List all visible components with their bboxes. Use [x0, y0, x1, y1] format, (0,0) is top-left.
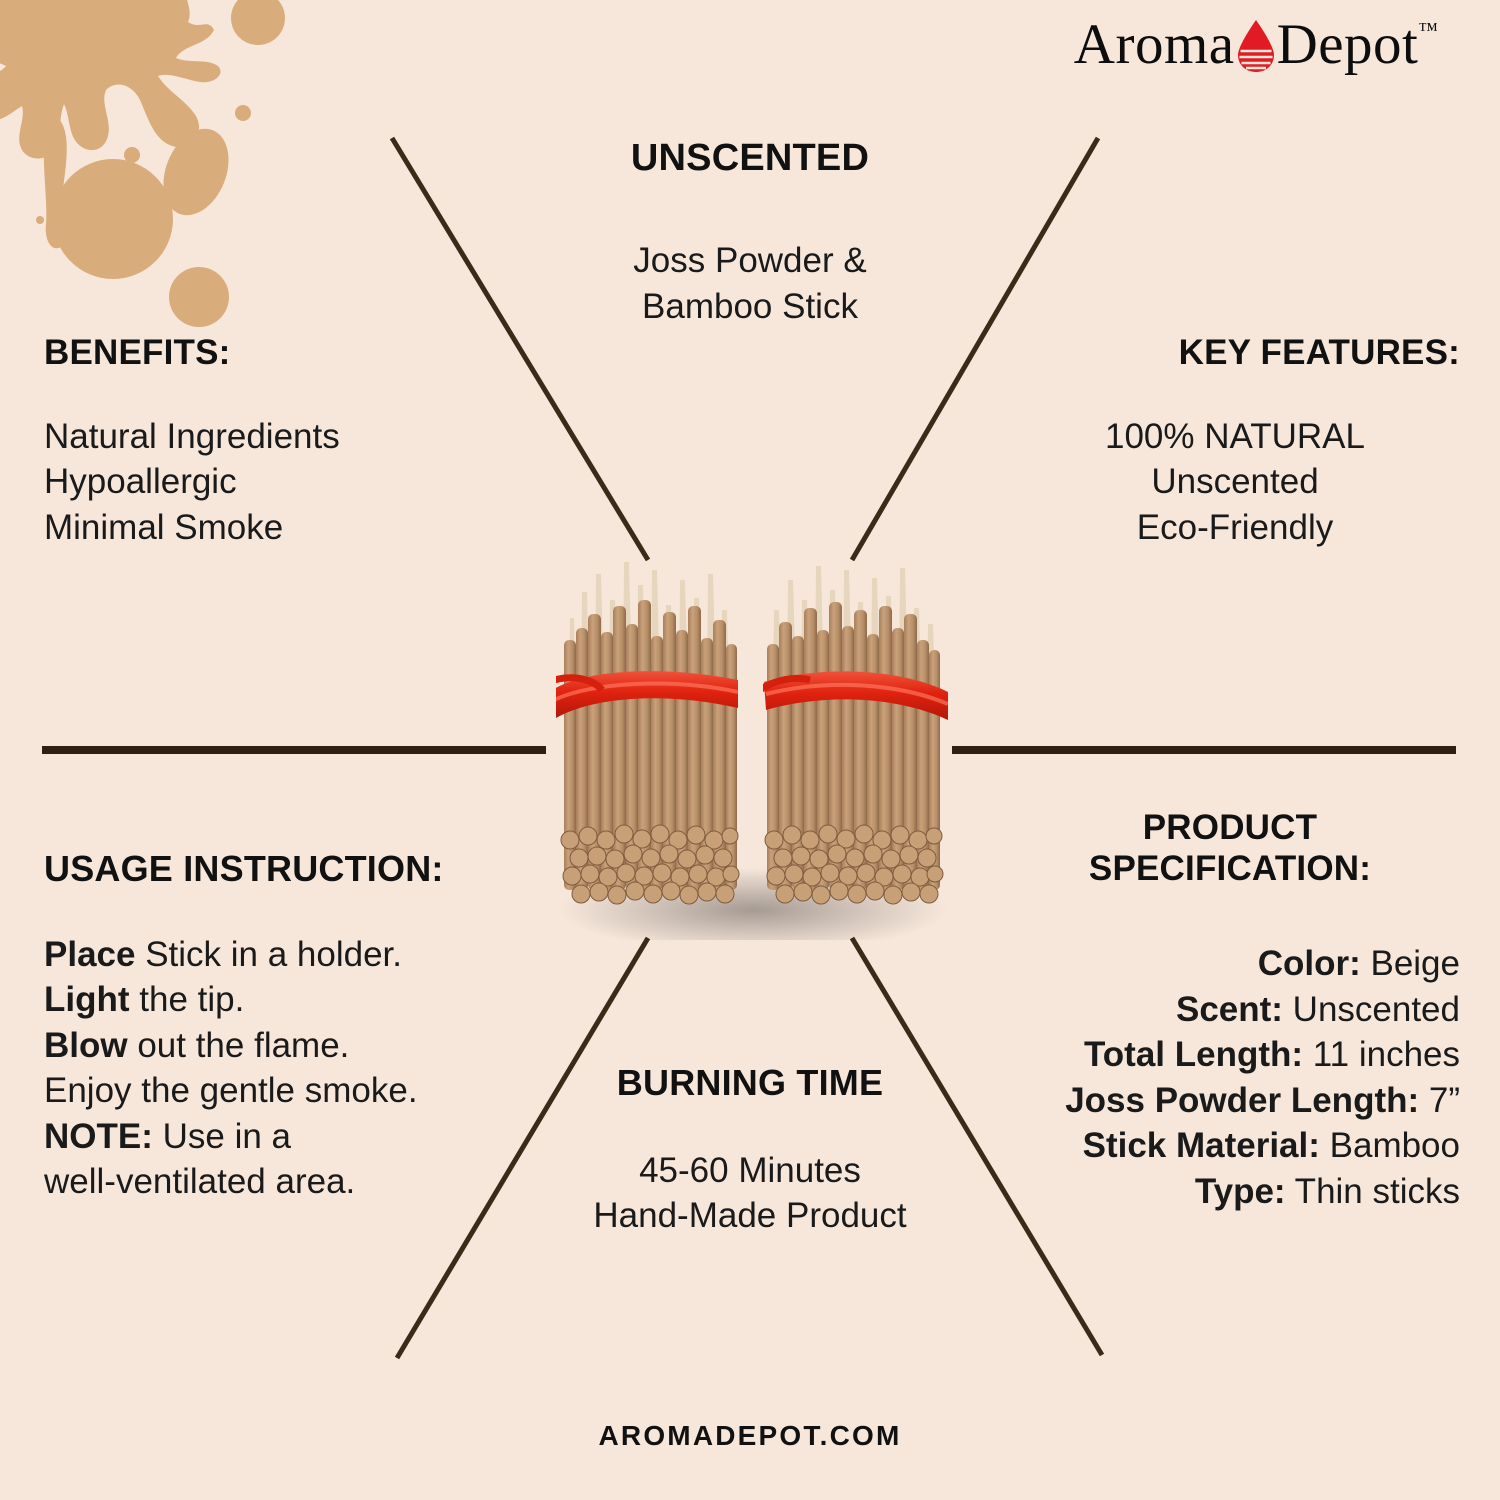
- usage-step-1-keyword: Place: [44, 935, 135, 974]
- section-usage-instruction: USAGE INSTRUCTION: Place Stick in a hold…: [44, 848, 524, 1205]
- spec-label-joss-powder-length: Joss Powder Length:: [1065, 1081, 1419, 1120]
- unscented-line-1: Joss Powder &: [500, 238, 1000, 284]
- usage-step-4-text: Enjoy the gentle smoke.: [44, 1071, 418, 1110]
- usage-step-5-keyword: NOTE:: [44, 1117, 153, 1156]
- product-image-incense-bundles: [548, 540, 958, 940]
- key-features-item-2: Unscented: [1010, 459, 1460, 505]
- spec-label-stick-material: Stick Material:: [1083, 1126, 1320, 1165]
- burning-time-line-2: Hand-Made Product: [500, 1193, 1000, 1239]
- benefits-item-2: Hypoallergic: [44, 459, 484, 505]
- spec-row-type: Type: Thin sticks: [1000, 1169, 1460, 1215]
- burning-time-line-1: 45-60 Minutes: [500, 1148, 1000, 1194]
- benefits-item-1: Natural Ingredients: [44, 414, 484, 460]
- usage-step-6-text: well-ventilated area.: [44, 1162, 355, 1201]
- usage-step-4: Enjoy the gentle smoke.: [44, 1068, 524, 1114]
- section-key-features: KEY FEATURES: 100% NATURAL Unscented Eco…: [1010, 333, 1460, 550]
- usage-step-5-text: Use in a: [153, 1117, 291, 1156]
- usage-step-2-text: the tip.: [130, 980, 245, 1019]
- key-features-item-1: 100% NATURAL: [1010, 414, 1460, 460]
- spec-row-color: Color: Beige: [1000, 941, 1460, 987]
- usage-step-3-keyword: Blow: [44, 1026, 128, 1065]
- usage-step-5: NOTE: Use in a: [44, 1114, 524, 1160]
- usage-step-2-keyword: Light: [44, 980, 130, 1019]
- section-benefits: BENEFITS: Natural Ingredients Hypoallerg…: [44, 333, 484, 550]
- infographic-page: Aroma Depot ™: [0, 0, 1500, 1500]
- spec-row-total-length: Total Length: 11 inches: [1000, 1032, 1460, 1078]
- section-unscented: UNSCENTED Joss Powder & Bamboo Stick: [500, 136, 1000, 329]
- usage-step-3-text: out the flame.: [128, 1026, 350, 1065]
- unscented-title: UNSCENTED: [500, 136, 1000, 180]
- usage-step-3: Blow out the flame.: [44, 1023, 524, 1069]
- spec-value-joss-powder-length: 7”: [1419, 1081, 1460, 1120]
- spec-row-scent: Scent: Unscented: [1000, 987, 1460, 1033]
- spec-row-stick-material: Stick Material: Bamboo: [1000, 1123, 1460, 1169]
- usage-step-6: well-ventilated area.: [44, 1159, 524, 1205]
- spec-value-scent: Unscented: [1283, 990, 1460, 1029]
- spec-label-scent: Scent:: [1176, 990, 1283, 1029]
- usage-step-1: Place Stick in a holder.: [44, 932, 524, 978]
- spec-value-type: Thin sticks: [1286, 1172, 1460, 1211]
- usage-step-1-text: Stick in a holder.: [135, 935, 402, 974]
- footer-website[interactable]: AROMADEPOT.COM: [0, 1420, 1500, 1452]
- specification-title-line-1: PRODUCT: [1000, 808, 1460, 849]
- spec-label-type: Type:: [1195, 1172, 1286, 1211]
- usage-title: USAGE INSTRUCTION:: [44, 848, 524, 890]
- unscented-line-2: Bamboo Stick: [500, 284, 1000, 330]
- usage-step-2: Light the tip.: [44, 977, 524, 1023]
- section-burning-time: BURNING TIME 45-60 Minutes Hand-Made Pro…: [500, 1062, 1000, 1239]
- specification-title-line-2: SPECIFICATION:: [1000, 849, 1460, 890]
- spec-label-total-length: Total Length:: [1084, 1035, 1303, 1074]
- key-features-title: KEY FEATURES:: [1010, 333, 1460, 374]
- spec-value-color: Beige: [1361, 944, 1460, 983]
- key-features-item-3: Eco-Friendly: [1010, 505, 1460, 551]
- burning-time-title: BURNING TIME: [500, 1062, 1000, 1104]
- benefits-title: BENEFITS:: [44, 333, 484, 374]
- section-product-specification: PRODUCT SPECIFICATION: Color: Beige Scen…: [1000, 808, 1460, 1214]
- spec-value-stick-material: Bamboo: [1320, 1126, 1460, 1165]
- spec-value-total-length: 11 inches: [1303, 1035, 1460, 1074]
- spec-label-color: Color:: [1258, 944, 1361, 983]
- spec-row-joss-powder-length: Joss Powder Length: 7”: [1000, 1078, 1460, 1124]
- benefits-item-3: Minimal Smoke: [44, 505, 484, 551]
